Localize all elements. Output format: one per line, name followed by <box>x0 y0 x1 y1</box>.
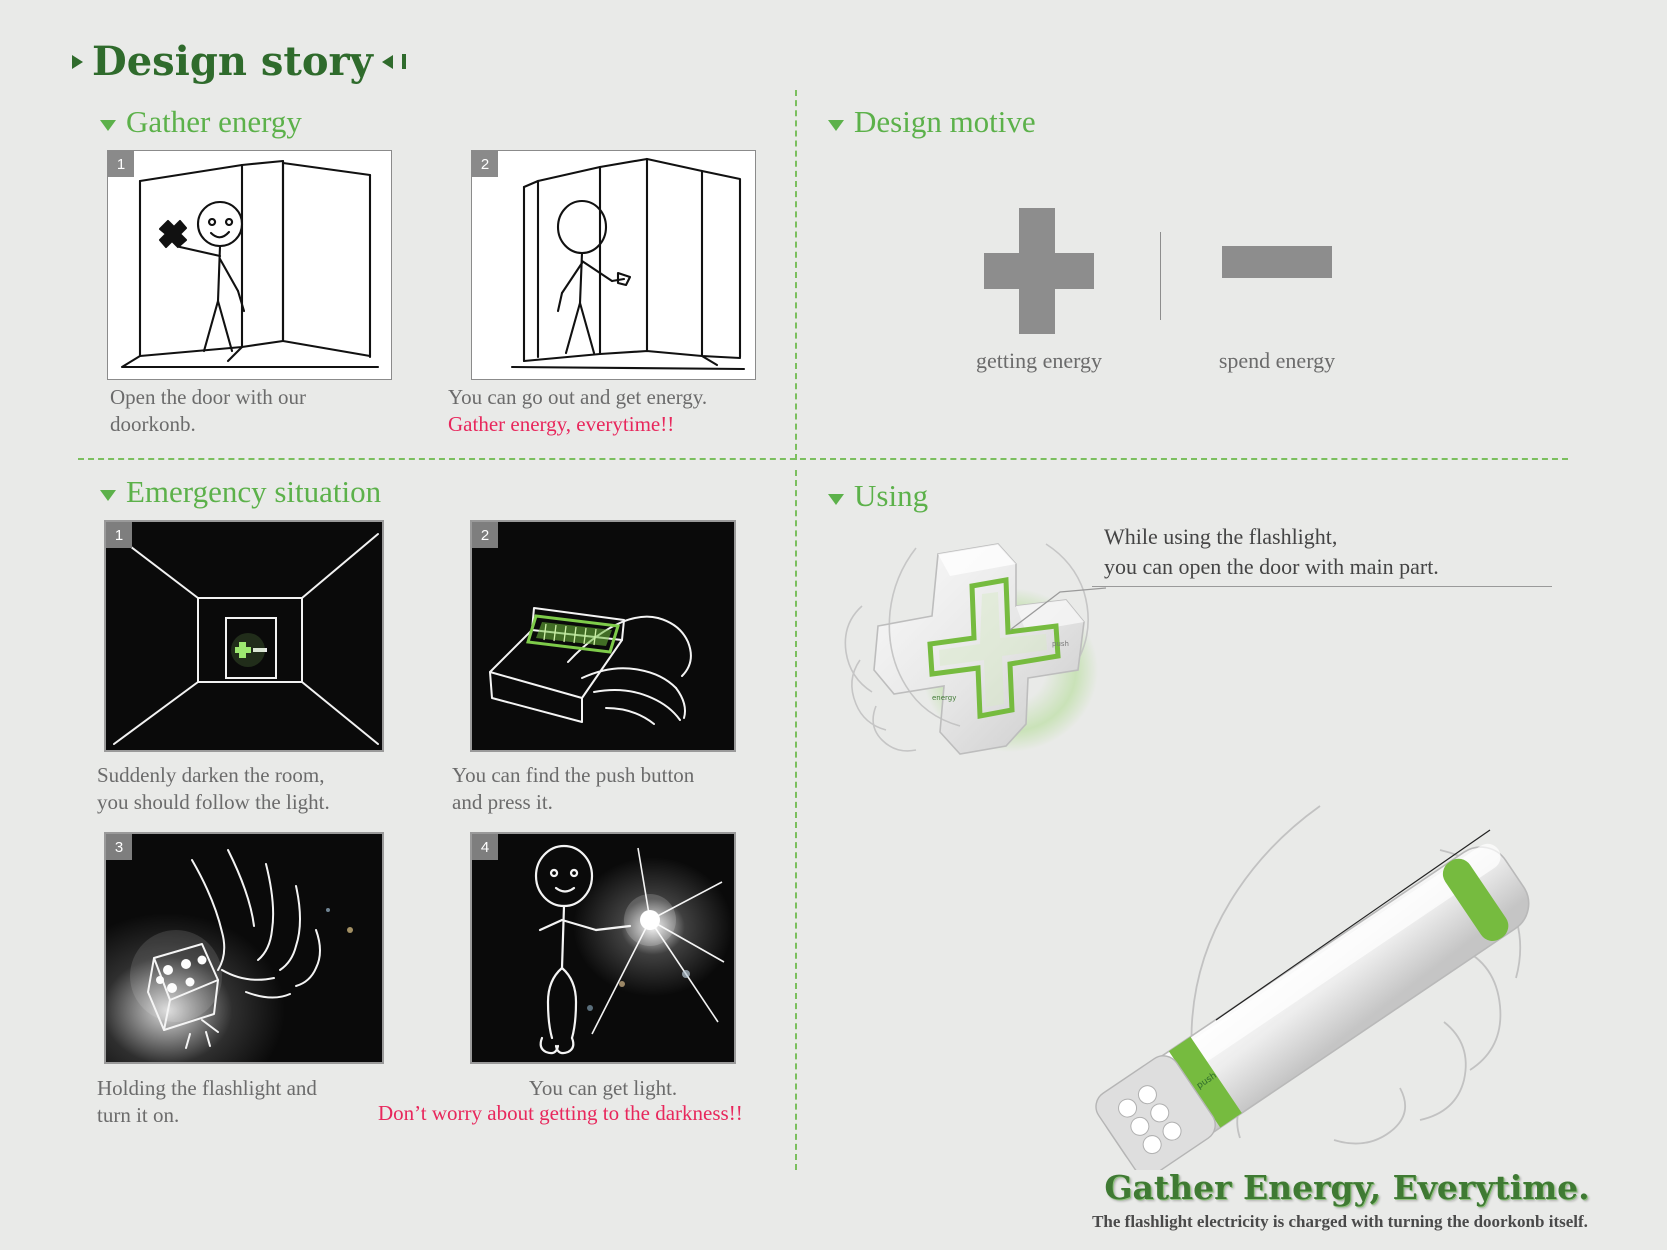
sketch-dark-room <box>106 522 384 752</box>
page-title-text: Design story <box>92 38 373 85</box>
section-heading-gather-energy: Gather energy <box>100 104 302 140</box>
panel-emergency-2: 2 <box>470 520 736 752</box>
panel-emergency-4: 4 <box>470 832 736 1064</box>
caption-line: you should follow the light. <box>97 789 427 816</box>
sketch-press-button <box>472 522 736 752</box>
panel-number: 4 <box>472 834 498 860</box>
caption-emergency-2: You can find the push button and press i… <box>452 762 782 816</box>
triangle-left-icon <box>382 55 393 69</box>
horizontal-divider <box>78 458 1568 460</box>
panel-emergency-1: 1 <box>104 520 384 752</box>
section-heading-label: Using <box>854 478 928 514</box>
caption-line-highlight: Gather energy, everytime!! <box>448 411 788 438</box>
caption-line: Holding the flashlight and <box>97 1075 427 1102</box>
page-title: Design story <box>72 38 406 85</box>
caption-line: Open the door with our <box>110 384 440 411</box>
chevron-down-icon <box>100 120 116 131</box>
title-bar-icon <box>402 54 406 69</box>
section-heading-emergency-situation: Emergency situation <box>100 474 381 510</box>
section-heading-design-motive: Design motive <box>828 104 1036 140</box>
caption-line: Suddenly darken the room, <box>97 762 427 789</box>
emergency-warning-text: Don’t worry about getting to the darknes… <box>378 1100 848 1127</box>
design-story-page: Design story Gather energy Design motive… <box>0 0 1667 1250</box>
panel-number: 2 <box>472 522 498 548</box>
section-heading-label: Emergency situation <box>126 474 381 510</box>
door-handle-glow <box>231 633 267 667</box>
illustration-flashlight-in-hand: push <box>1020 770 1640 1170</box>
annotation-line: While using the flashlight, <box>1104 522 1439 552</box>
motive-label-getting-energy: getting energy <box>919 348 1159 374</box>
triangle-right-icon <box>72 55 83 69</box>
caption-gather-2: You can go out and get energy. Gather en… <box>448 384 788 438</box>
plus-symbol-icon <box>984 208 1094 334</box>
panel-number: 1 <box>106 522 132 548</box>
caption-line: You can go out and get energy. <box>448 384 788 411</box>
panel-emergency-3: 3 <box>104 832 384 1064</box>
device-label-push: push <box>1052 640 1069 648</box>
caption-emergency-1: Suddenly darken the room, you should fol… <box>97 762 427 816</box>
push-button-pad <box>528 616 618 652</box>
sketch-get-light <box>472 834 736 1064</box>
sketch-holding-flashlight <box>106 834 384 1064</box>
footer-slogan: Gather Energy, Everytime. <box>1067 1168 1627 1207</box>
device-label-energy: energy <box>932 694 956 702</box>
vertical-divider-bottom <box>795 470 797 1170</box>
annotation-underline <box>1092 586 1552 587</box>
annotation-leader-line <box>1010 580 1110 632</box>
minus-symbol-icon <box>1222 246 1332 278</box>
caption-emergency-4: You can get light. <box>470 1075 736 1102</box>
panel-gather-1: 1 <box>107 150 392 380</box>
caption-line: and press it. <box>452 789 782 816</box>
caption-line: doorkonb. <box>110 411 440 438</box>
sketch-open-door <box>108 151 392 380</box>
caption-line: You can get light. <box>470 1075 736 1102</box>
caption-line: You can find the push button <box>452 762 782 789</box>
sketch-going-out <box>472 151 756 380</box>
caption-gather-1: Open the door with our doorkonb. <box>110 384 440 438</box>
chevron-down-icon <box>828 120 844 131</box>
panel-number: 3 <box>106 834 132 860</box>
using-annotation: While using the flashlight, you can open… <box>1104 522 1439 582</box>
section-heading-using: Using <box>828 478 928 514</box>
vertical-divider-top <box>795 90 797 460</box>
motive-label-spend-energy: spend energy <box>1157 348 1397 374</box>
panel-gather-2: 2 <box>471 150 756 380</box>
footer-subtitle: The flashlight electricity is charged wi… <box>1020 1212 1660 1232</box>
annotation-line: you can open the door with main part. <box>1104 552 1439 582</box>
chevron-down-icon <box>100 490 116 501</box>
panel-number: 2 <box>472 151 498 177</box>
panel-number: 1 <box>108 151 134 177</box>
motive-divider <box>1160 232 1161 320</box>
chevron-down-icon <box>828 494 844 505</box>
section-heading-label: Gather energy <box>126 104 302 140</box>
section-heading-label: Design motive <box>854 104 1036 140</box>
